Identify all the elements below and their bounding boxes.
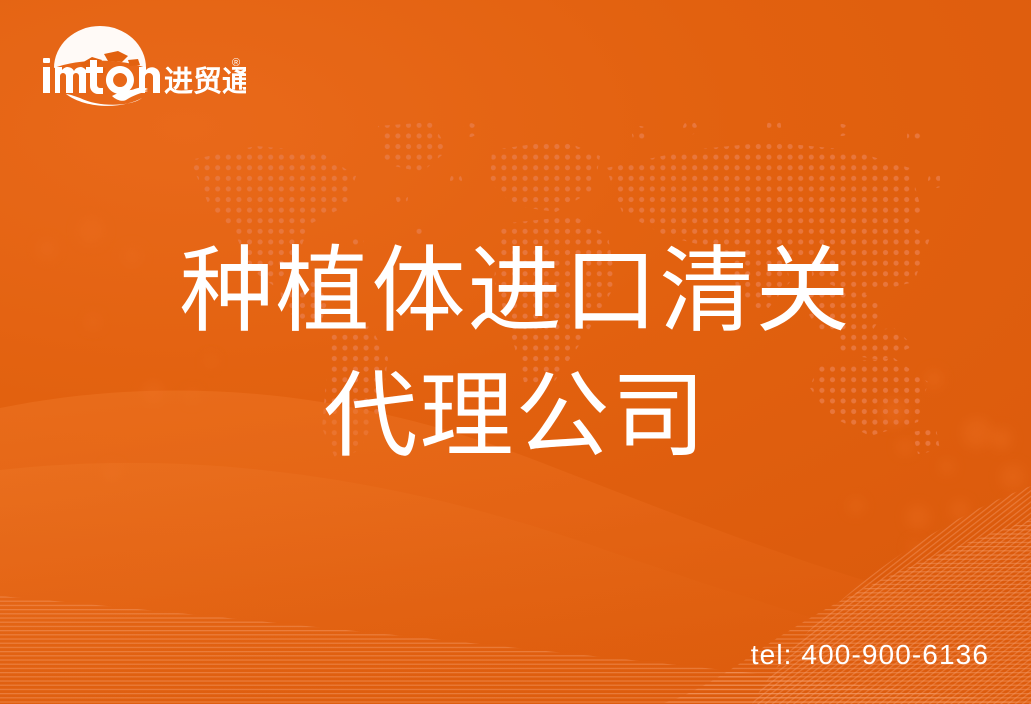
registered-trademark-icon: ® (232, 57, 240, 69)
swoosh-bird-icon (66, 88, 148, 106)
headline: 种植体进口清关 代理公司 (0, 228, 1031, 478)
headline-line-1: 种植体进口清关 (0, 228, 1031, 353)
logo-chinese-name: 进贸通 (164, 65, 246, 98)
headline-line-2: 代理公司 (0, 353, 1031, 478)
globe-dome-icon (54, 26, 146, 74)
telephone-label: tel: 400-900-6136 (751, 639, 989, 671)
promo-banner: 进贸通 ® 种植体进口清关 代理公司 tel: 400-900-6136 (0, 0, 1031, 704)
imton-logo[interactable]: 进贸通 ® (36, 24, 246, 108)
